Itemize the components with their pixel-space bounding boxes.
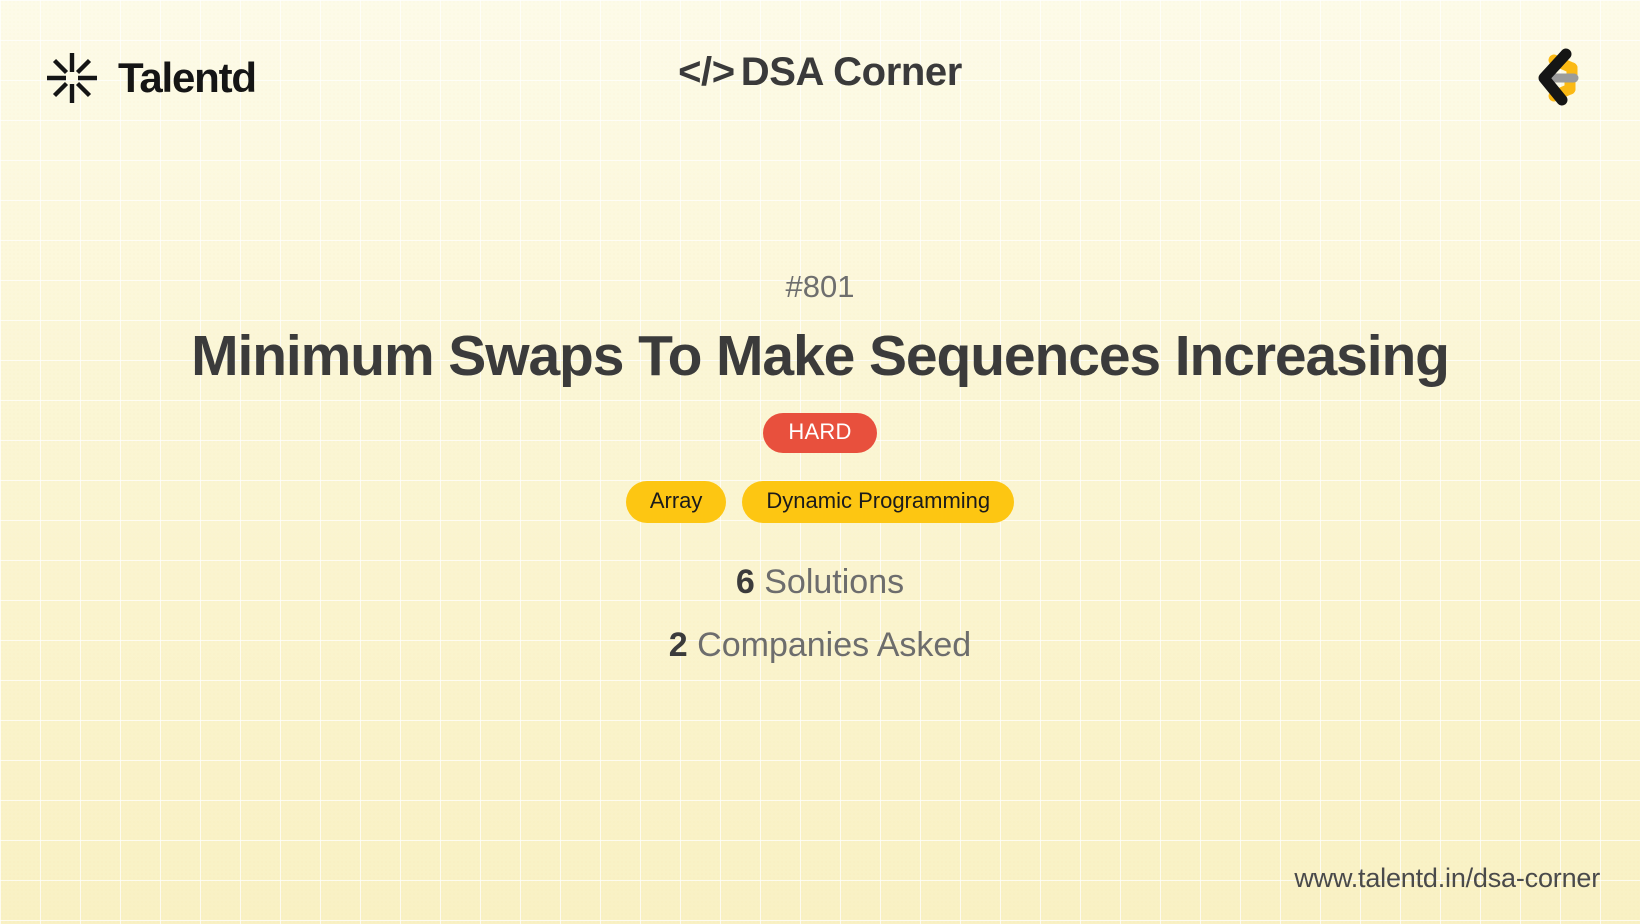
talentd-chevron-logo-icon[interactable]: [1510, 35, 1596, 121]
header-bar: Talentd </>DSA Corner: [0, 0, 1640, 155]
dsa-problem-card: Talentd </>DSA Corner #801 Minimum Swaps…: [0, 0, 1640, 924]
code-tag-icon: </>: [678, 50, 735, 94]
stat-solutions: 6 Solutions: [736, 565, 904, 599]
page-title-text: DSA Corner: [741, 50, 962, 94]
difficulty-badge: HARD: [763, 413, 876, 453]
stat-companies-label: Companies Asked: [697, 626, 971, 664]
brand-name: Talentd: [118, 57, 256, 99]
brand-logo[interactable]: Talentd: [44, 50, 256, 106]
problem-title: Minimum Swaps To Make Sequences Increasi…: [191, 326, 1449, 388]
stat-companies-value: 2: [669, 626, 688, 664]
tag-list: Array Dynamic Programming: [626, 481, 1014, 523]
footer: www.talentd.in/dsa-corner: [1294, 865, 1600, 892]
stat-solutions-value: 6: [736, 563, 755, 601]
tag-chip-dynamic-programming[interactable]: Dynamic Programming: [742, 481, 1014, 523]
tag-chip-array[interactable]: Array: [626, 481, 727, 523]
footer-url[interactable]: www.talentd.in/dsa-corner: [1294, 863, 1600, 893]
stat-solutions-label: Solutions: [764, 563, 904, 601]
asterisk-starburst-icon: [44, 50, 100, 106]
problem-content: #801 Minimum Swaps To Make Sequences Inc…: [0, 155, 1640, 834]
problem-number: #801: [786, 271, 855, 302]
stat-companies: 2 Companies Asked: [669, 628, 971, 662]
